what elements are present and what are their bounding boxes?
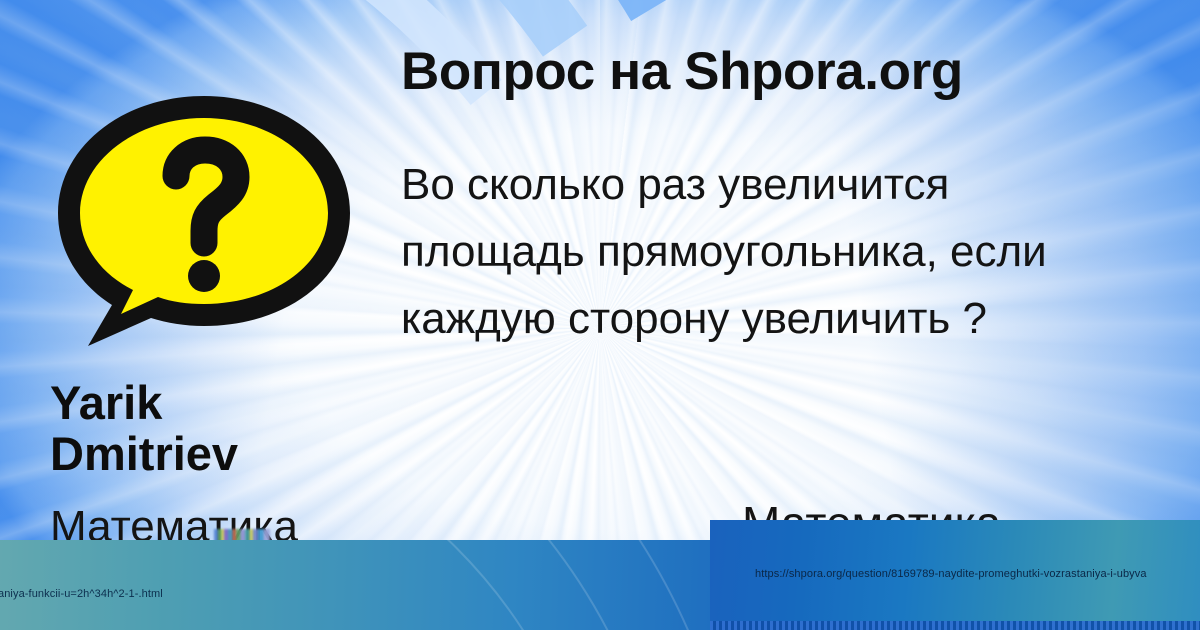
- page-title: Вопрос на Shpora.org: [401, 42, 963, 103]
- question-text: Во сколько раз увеличится площадь прямоу…: [401, 152, 1200, 353]
- author-name: Yarik Dmitriev: [50, 378, 380, 480]
- band-dotted-edge: [710, 621, 1200, 630]
- overlay-band-left: [0, 540, 710, 630]
- question-line-3: каждую сторону увеличить ?: [401, 286, 1200, 353]
- author-first-name: Yarik: [50, 378, 380, 429]
- question-speech-bubble-icon: [48, 88, 360, 356]
- question-line-1: Во сколько раз увеличится: [401, 152, 1200, 219]
- question-line-2: площадь прямоугольника, если: [401, 219, 1200, 286]
- url-fragment-right[interactable]: https://shpora.org/question/8169789-nayd…: [755, 568, 1147, 580]
- url-fragment-left[interactable]: aniya-funkcii-u=2h^34h^2-1-.html: [0, 588, 163, 600]
- author-last-name: Dmitriev: [50, 429, 380, 480]
- question-mark-dot: [188, 260, 220, 292]
- share-card: Вопрос на Shpora.org Во сколько раз увел…: [0, 0, 1200, 630]
